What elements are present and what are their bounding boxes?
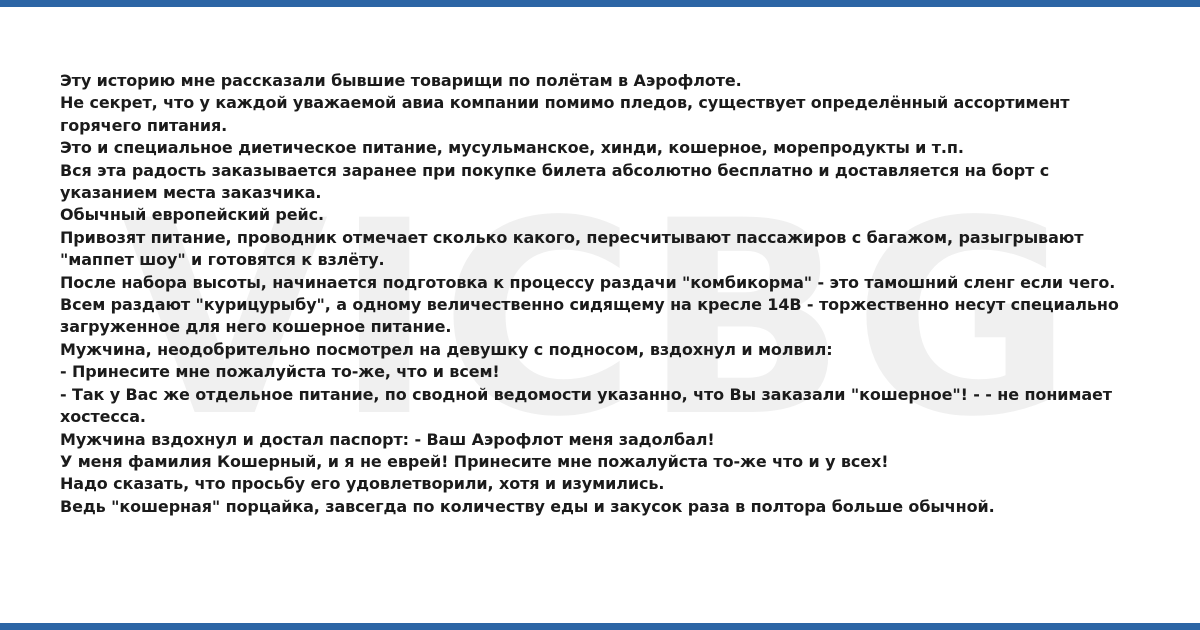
story-line: Не секрет, что у каждой уважаемой авиа к… xyxy=(60,92,1152,137)
top-accent-bar xyxy=(0,0,1200,7)
bottom-accent-bar xyxy=(0,623,1200,630)
story-line: Обычный европейский рейс. xyxy=(60,204,1152,226)
story-card: VICBG Эту историю мне рассказали бывшие … xyxy=(0,0,1200,630)
story-line: Эту историю мне рассказали бывшие товари… xyxy=(60,70,1152,92)
story-line: У меня фамилия Кошерный, и я не еврей! П… xyxy=(60,451,1152,473)
story-line: Мужчина, неодобрительно посмотрел на дев… xyxy=(60,339,1152,361)
story-line: - Так у Вас же отдельное питание, по сво… xyxy=(60,384,1152,429)
story-line: Надо сказать, что просьбу его удовлетвор… xyxy=(60,473,1152,495)
story-line: После набора высоты, начинается подготов… xyxy=(60,272,1152,294)
story-line: Вся эта радость заказывается заранее при… xyxy=(60,160,1152,205)
story-line: Всем раздают "курицурыбу", а одному вели… xyxy=(60,294,1152,339)
story-text-block: Эту историю мне рассказали бывшие товари… xyxy=(60,70,1152,518)
story-line: Мужчина вздохнул и достал паспорт: - Ваш… xyxy=(60,429,1152,451)
story-line: - Принесите мне пожалуйста то-же, что и … xyxy=(60,361,1152,383)
story-line: Ведь "кошерная" порцайка, завсегда по ко… xyxy=(60,496,1152,518)
story-line: Привозят питание, проводник отмечает ско… xyxy=(60,227,1152,272)
story-line: Это и специальное диетическое питание, м… xyxy=(60,137,1152,159)
